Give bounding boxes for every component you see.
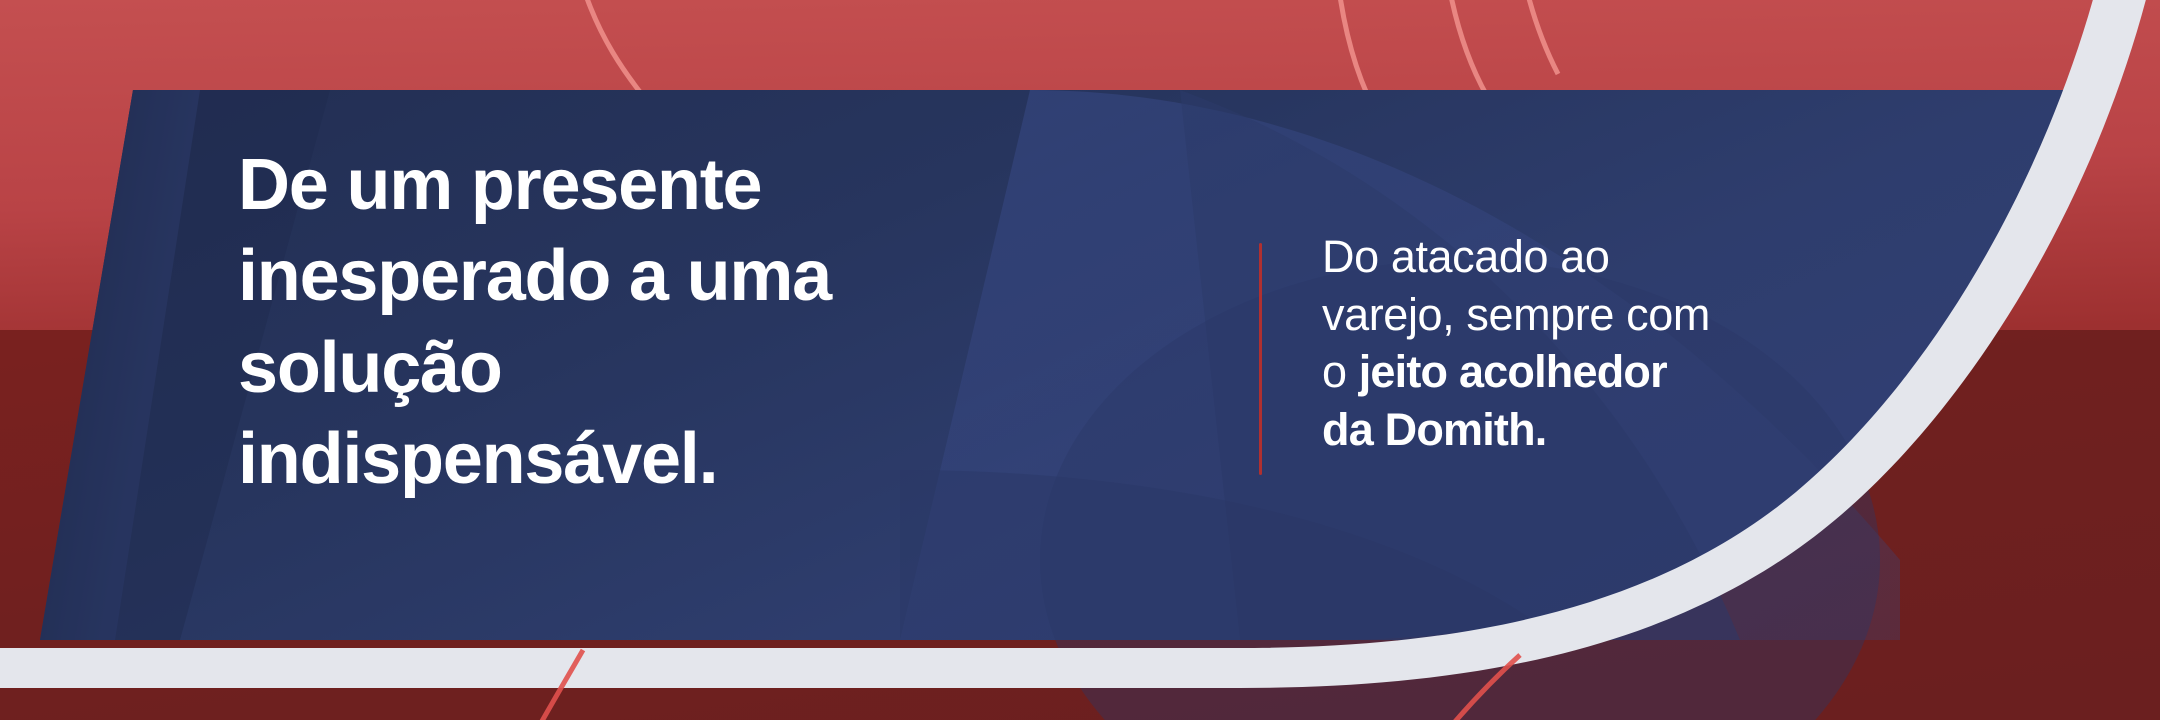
subcopy-line-4-bold: da Domith. <box>1322 404 1547 455</box>
headline: De um presente inesperado a uma solução … <box>238 140 958 506</box>
subcopy-line-3-bold: jeito acolhedor <box>1359 346 1667 397</box>
subcopy-line-4: da Domith. <box>1322 401 1842 459</box>
subcopy-line-1: Do atacado ao <box>1322 228 1842 286</box>
banner-content: De um presente inesperado a uma solução … <box>0 0 2160 720</box>
subcopy-block: Do atacado ao varejo, sempre com o jeito… <box>1322 228 1842 458</box>
promo-banner: De um presente inesperado a uma solução … <box>0 0 2160 720</box>
subcopy-line-2: varejo, sempre com <box>1322 286 1842 344</box>
subcopy-line-3: o jeito acolhedor <box>1322 343 1842 401</box>
subcopy-line-3-prefix: o <box>1322 346 1359 397</box>
vertical-red-divider <box>1259 243 1262 475</box>
